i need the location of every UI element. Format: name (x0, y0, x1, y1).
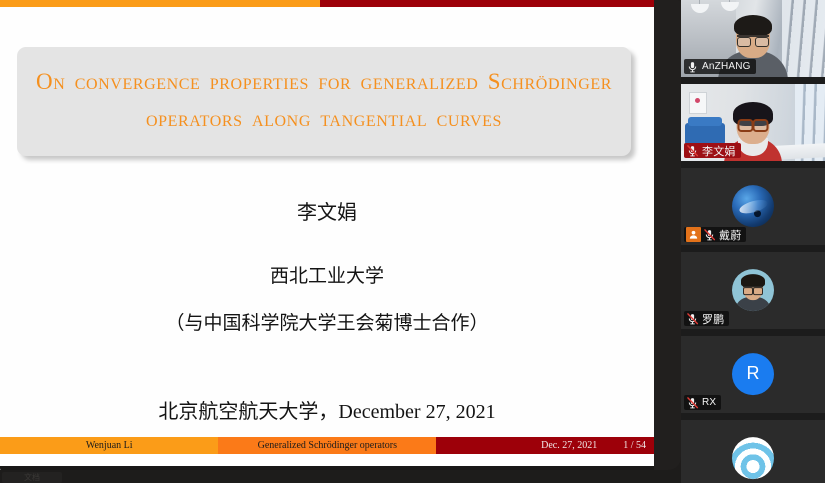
participant-tile[interactable]: 李文娟 (681, 84, 825, 161)
eyeglasses-icon (738, 119, 769, 128)
slide-body: 李文娟 西北工业大学 （与中国科学院大学王会菊博士合作） 北京航空航天大学，De… (0, 196, 654, 424)
participant-name-badge: 戴蔚 (684, 227, 746, 242)
participant-tile[interactable] (681, 420, 825, 483)
avatar (732, 437, 774, 479)
wifi-avatar-image (732, 437, 774, 479)
avatar (732, 269, 774, 311)
host-person-icon (686, 227, 701, 242)
screen-root: On convergence properties for generalize… (0, 0, 825, 483)
eyeglasses-icon (737, 35, 769, 45)
footer-date-page: Dec. 27, 2021 1 / 54 (436, 437, 654, 454)
footer-page-number: 1 / 54 (623, 440, 646, 451)
participant-name: 戴蔚 (719, 227, 741, 243)
slide-frame-right-edge (654, 0, 681, 470)
avatar: R (732, 353, 774, 395)
participant-name-badge: RX (684, 395, 721, 410)
headline-remainder-segment (320, 0, 654, 7)
microphone-muted-icon (686, 396, 699, 410)
page-title: On convergence properties for generalize… (35, 63, 613, 138)
participant-avatar-area (681, 420, 825, 483)
shared-screen-area[interactable]: On convergence properties for generalize… (0, 0, 681, 483)
participant-name: AnZHANG (702, 61, 751, 72)
initial-avatar: R (732, 353, 774, 395)
photo-avatar-image (732, 269, 774, 311)
slide-collaboration: （与中国科学院大学王会菊博士合作） (0, 308, 654, 335)
beamer-headline-bar (0, 0, 654, 7)
slide-title-box: On convergence properties for generalize… (17, 47, 631, 156)
footer-date: Dec. 27, 2021 (541, 440, 597, 451)
participant-name-badge: AnZHANG (684, 59, 756, 74)
slide-frame-bottom-edge (0, 470, 681, 483)
footer-author: Wenjuan Li (0, 437, 218, 454)
participant-tile[interactable]: R RX (681, 336, 825, 413)
participant-name-badge: 罗鹏 (684, 311, 729, 326)
participant-tile[interactable]: 戴蔚 (681, 168, 825, 245)
slide-affiliation: 西北工业大学 (0, 261, 654, 288)
participant-name-badge: 李文娟 (684, 143, 741, 158)
headline-progress-segment (0, 0, 320, 7)
microphone-muted-icon (686, 312, 699, 326)
participant-name: RX (702, 397, 716, 408)
microphone-muted-icon (686, 144, 699, 158)
taskbar-fragment[interactable]: 文档 (2, 472, 62, 483)
slide-footer: Wenjuan Li Generalized Schrödinger opera… (0, 437, 654, 454)
footer-short-title: Generalized Schrödinger operators (218, 437, 436, 454)
slide-venue-date: 北京航空航天大学，December 27, 2021 (0, 395, 654, 424)
presentation-slide: On convergence properties for generalize… (0, 0, 654, 470)
microphone-icon (686, 60, 699, 74)
avatar (732, 185, 774, 227)
participant-name: 罗鹏 (702, 311, 724, 327)
decor-picture-frame (689, 92, 707, 114)
participant-name: 李文娟 (702, 143, 736, 159)
slide-author: 李文娟 (0, 196, 654, 225)
microphone-muted-icon (703, 228, 716, 242)
participant-tile[interactable]: AnZHANG (681, 0, 825, 77)
planet-avatar-image (732, 185, 774, 227)
participant-filmstrip[interactable]: AnZHANG (681, 0, 825, 483)
participant-tile[interactable]: 罗鹏 (681, 252, 825, 329)
